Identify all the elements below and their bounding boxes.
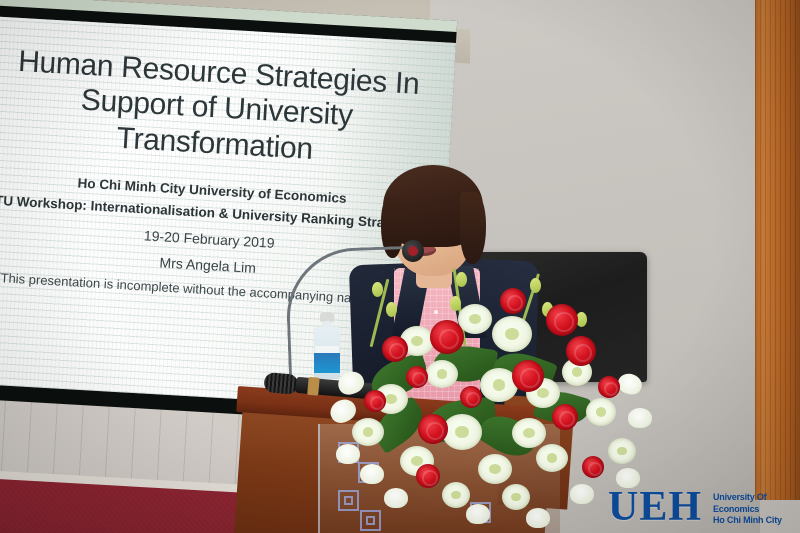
white-flower	[512, 418, 546, 448]
red-rose	[416, 464, 440, 488]
red-rose	[512, 360, 544, 392]
flower-bud	[386, 302, 397, 317]
orchid	[326, 395, 359, 427]
orchid	[615, 371, 644, 397]
white-flower	[442, 482, 470, 508]
flower-bud	[450, 296, 461, 311]
slide-title: Human Resource Strategies In Support of …	[0, 43, 440, 174]
orchid	[335, 368, 367, 398]
orchid	[466, 504, 490, 524]
logo-line-3: Ho Chi Minh City	[713, 515, 782, 527]
ueh-logo: UEH University Of Economics Ho Chi Minh …	[608, 489, 798, 533]
orchid	[628, 408, 652, 428]
white-flower	[586, 398, 616, 426]
white-flower	[478, 454, 512, 484]
orchid	[526, 508, 550, 528]
mic-grille	[263, 372, 299, 395]
presentation-photo: Human Resource Strategies In Support of …	[0, 0, 800, 533]
red-rose	[460, 386, 482, 408]
red-rose	[500, 288, 526, 314]
orchid	[570, 484, 594, 504]
white-flower	[492, 316, 532, 352]
red-rose	[566, 336, 596, 366]
white-flower	[426, 360, 458, 388]
logo-line-2: Economics	[713, 504, 782, 516]
red-rose	[382, 336, 408, 362]
red-rose	[598, 376, 620, 398]
red-rose	[582, 456, 604, 478]
ueh-wordmark: UEH	[608, 486, 702, 528]
red-rose	[546, 304, 578, 336]
white-flower	[608, 438, 636, 464]
ueh-logo-subtext: University Of Economics Ho Chi Minh City	[713, 492, 782, 527]
logo-line-1: University Of	[713, 492, 782, 504]
microphone-icon	[402, 240, 424, 262]
orchid	[384, 488, 408, 508]
flower-bud	[456, 272, 467, 287]
flower-bud	[372, 282, 383, 297]
white-flower	[536, 444, 568, 472]
red-rose	[364, 390, 386, 412]
white-flower	[502, 484, 530, 510]
red-rose	[418, 414, 448, 444]
wood-column	[755, 0, 800, 500]
flower-bud	[530, 278, 541, 293]
white-flower	[352, 418, 384, 446]
red-rose	[552, 404, 578, 430]
mic-gold-band	[307, 377, 320, 396]
red-rose	[430, 320, 464, 354]
white-flower	[458, 304, 492, 334]
hair-side-right	[460, 192, 486, 264]
orchid	[336, 444, 360, 464]
red-rose	[406, 366, 428, 388]
orchid	[360, 464, 384, 484]
white-flower	[442, 414, 482, 450]
